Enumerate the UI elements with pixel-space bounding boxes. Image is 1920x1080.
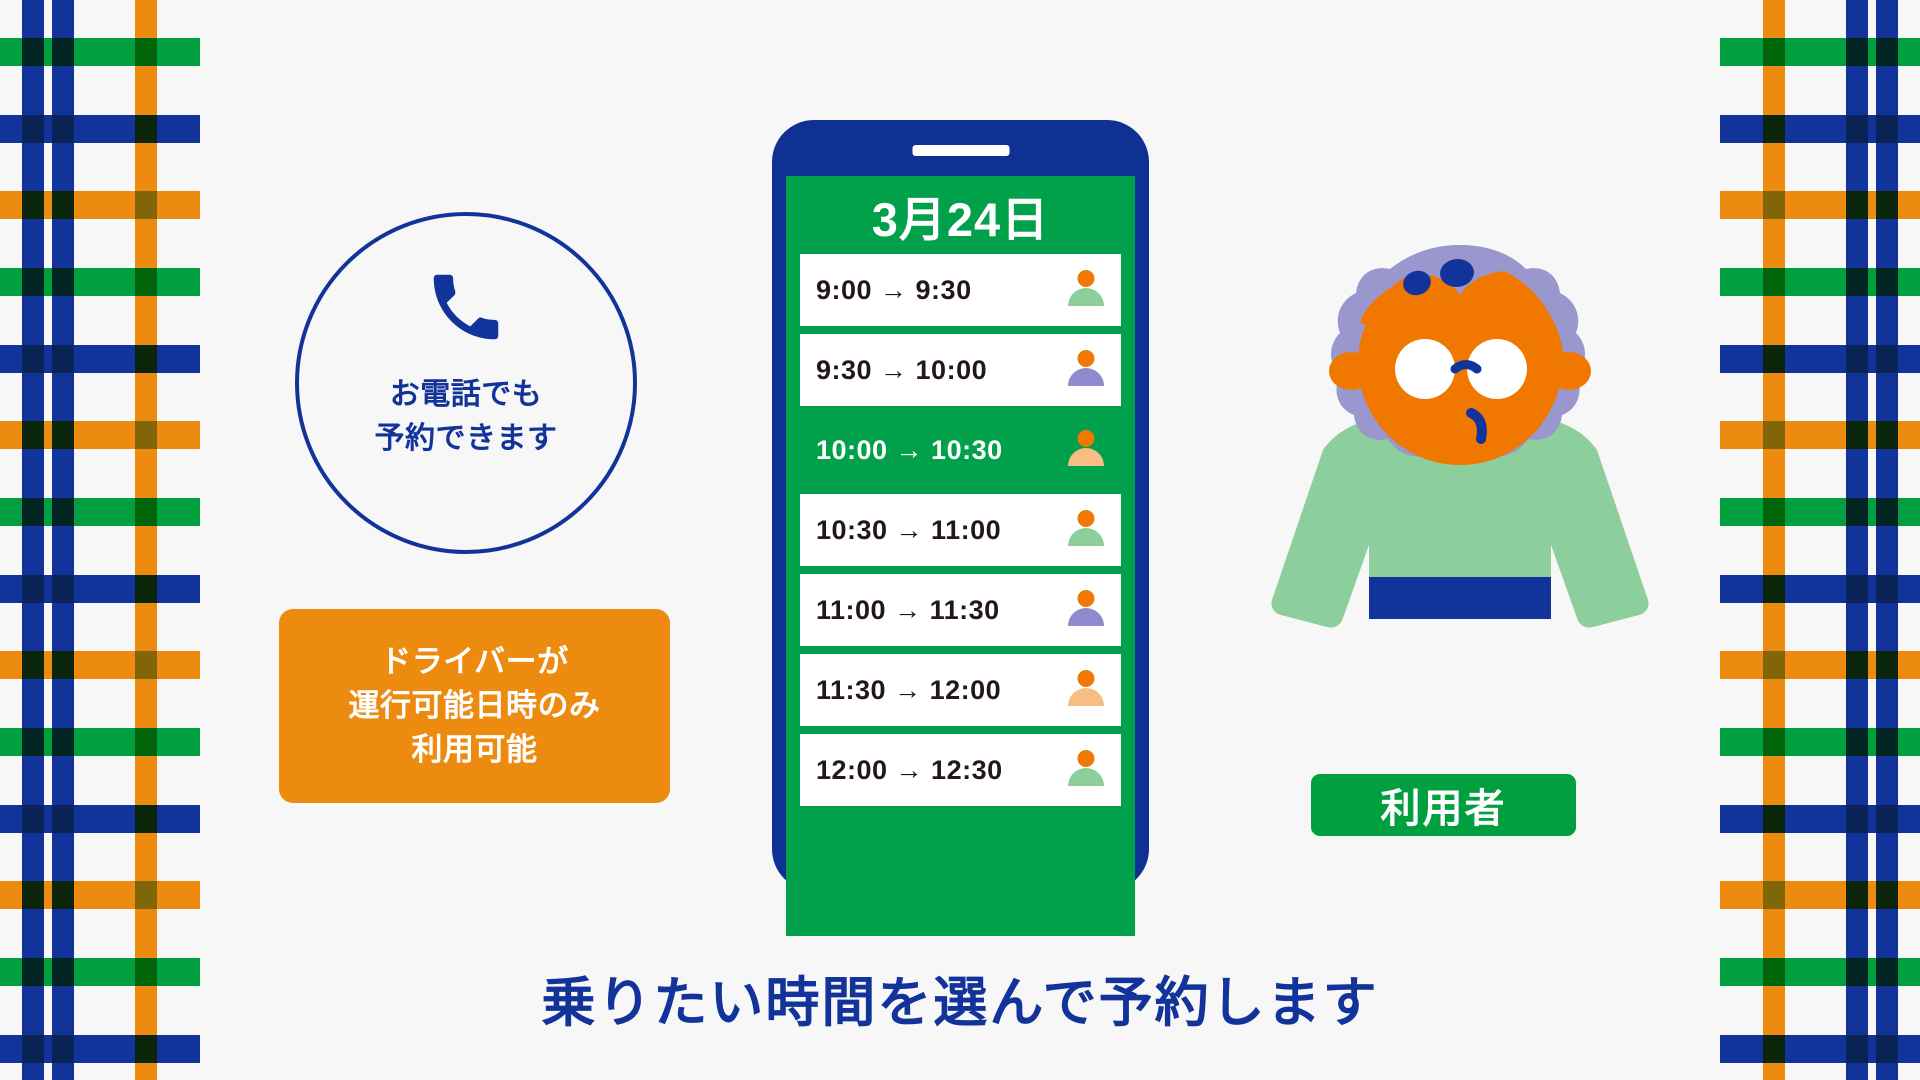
driver-note-line-3: 利用可能 [349,728,601,772]
speaker-slot-icon [912,145,1009,156]
phone-booking-text: お電話でも 予約できます [375,373,558,460]
plaid-vertical-stripe [135,0,157,1080]
plaid-intersection [1846,575,1868,603]
plaid-border-left [0,0,200,1080]
plaid-intersection [1763,728,1785,756]
plaid-intersection [1763,805,1785,833]
plaid-intersection [52,651,74,679]
plaid-intersection [52,421,74,449]
avatar-body [1068,368,1104,386]
plaid-intersection [52,498,74,526]
phone-handset-icon [423,264,509,355]
person-avatar-icon [1065,750,1107,790]
plaid-intersection [1846,345,1868,373]
plaid-intersection [1763,345,1785,373]
plaid-intersection [135,115,157,143]
plaid-intersection [22,345,44,373]
plaid-intersection [135,728,157,756]
plaid-intersection [135,575,157,603]
avatar-body [1068,288,1104,306]
plaid-intersection [1846,805,1868,833]
plaid-intersection [52,345,74,373]
plaid-vertical-stripe [22,0,44,1080]
plaid-intersection [1876,421,1898,449]
plaid-intersection [1763,651,1785,679]
plaid-intersection [1846,115,1868,143]
driver-note-line-2: 運行可能日時のみ [349,684,601,728]
avatar-body [1068,768,1104,786]
plaid-intersection [52,115,74,143]
time-slot-row[interactable]: 9:00 → 9:30 [800,254,1121,326]
avatar-body [1068,528,1104,546]
time-slot-label: 10:00 → 10:30 [816,435,1065,466]
time-slot-label: 10:30 → 11:00 [816,515,1065,546]
plaid-intersection [1763,575,1785,603]
plaid-intersection [1763,191,1785,219]
plaid-intersection [1846,421,1868,449]
plaid-intersection [1876,268,1898,296]
plaid-intersection [52,805,74,833]
plaid-intersection [135,651,157,679]
illustration-canvas: お電話でも 予約できます ドライバーが 運行可能日時のみ 利用可能 3月24日 … [0,0,1920,1080]
date-header: 3月24日 [786,176,1135,254]
avatar-head [1078,430,1095,447]
avatar-head [1078,590,1095,607]
time-slot-label: 9:00 → 9:30 [816,275,1065,306]
plaid-intersection [1846,728,1868,756]
plaid-intersection [22,575,44,603]
plaid-intersection [1846,191,1868,219]
person-avatar-icon [1065,590,1107,630]
avatar-head [1078,270,1095,287]
plaid-intersection [135,805,157,833]
plaid-intersection [1846,651,1868,679]
plaid-intersection [22,728,44,756]
plaid-vertical-stripe [1763,0,1785,1080]
plaid-intersection [22,191,44,219]
avatar-head [1078,670,1095,687]
time-slot-row[interactable]: 9:30 → 10:00 [800,334,1121,406]
plaid-intersection [1763,38,1785,66]
time-slot-label: 11:00 → 11:30 [816,595,1065,626]
plaid-intersection [1763,1035,1785,1063]
time-slot-row[interactable]: 10:30 → 11:00 [800,494,1121,566]
plaid-intersection [22,1035,44,1063]
plaid-intersection [52,881,74,909]
plaid-intersection [52,728,74,756]
person-avatar-icon [1065,270,1107,310]
time-slot-label: 12:00 → 12:30 [816,755,1065,786]
plaid-intersection [52,268,74,296]
time-slot-label: 11:30 → 12:00 [816,675,1065,706]
plaid-border-right [1720,0,1920,1080]
plaid-intersection [1876,651,1898,679]
time-slot-list: 9:00 → 9:309:30 → 10:0010:00 → 10:3010:3… [786,254,1135,806]
plaid-intersection [52,38,74,66]
time-slot-row[interactable]: 11:00 → 11:30 [800,574,1121,646]
user-illustration [1265,245,1655,865]
plaid-intersection [1846,498,1868,526]
plaid-intersection [135,881,157,909]
plaid-intersection [22,115,44,143]
plaid-intersection [22,498,44,526]
call-line-2: 予約できます [375,417,558,461]
plaid-intersection [1846,268,1868,296]
plaid-intersection [22,268,44,296]
call-line-1: お電話でも [375,373,558,417]
driver-note-line-1: ドライバーが [349,640,601,684]
person-avatar-icon [1065,430,1107,470]
plaid-intersection [1763,421,1785,449]
driver-availability-note: ドライバーが 運行可能日時のみ 利用可能 [279,609,670,803]
plaid-intersection [52,1035,74,1063]
plaid-vertical-stripe [1876,0,1898,1080]
plaid-intersection [1876,498,1898,526]
page-caption: 乗りたい時間を選んで予約します [0,958,1920,1037]
plaid-intersection [1876,881,1898,909]
plaid-intersection [1876,1035,1898,1063]
time-slot-label: 9:30 → 10:00 [816,355,1065,386]
plaid-intersection [1876,115,1898,143]
avatar-body [1068,608,1104,626]
person-avatar-icon [1065,350,1107,390]
plaid-intersection [1876,728,1898,756]
plaid-intersection [22,881,44,909]
plaid-intersection [22,805,44,833]
phone-booking-badge: お電話でも 予約できます [295,212,637,554]
plaid-intersection [1763,115,1785,143]
plaid-intersection [135,345,157,373]
user-role-badge: 利用者 [1311,774,1576,836]
avatar-head [1078,750,1095,767]
plaid-intersection [52,575,74,603]
time-slot-row[interactable]: 12:00 → 12:30 [800,734,1121,806]
plaid-intersection [1763,881,1785,909]
time-slot-row[interactable]: 10:00 → 10:30 [800,414,1121,486]
avatar-head [1078,350,1095,367]
plaid-intersection [135,268,157,296]
plaid-vertical-stripe [52,0,74,1080]
plaid-intersection [1876,575,1898,603]
phone-screen: 3月24日 9:00 → 9:309:30 → 10:0010:00 → 10:… [786,176,1135,936]
plaid-intersection [1763,498,1785,526]
smartphone-mockup: 3月24日 9:00 → 9:309:30 → 10:0010:00 → 10:… [772,120,1149,891]
plaid-intersection [52,191,74,219]
avatar-head [1078,510,1095,527]
plaid-intersection [1763,268,1785,296]
plaid-intersection [22,38,44,66]
plaid-intersection [1846,881,1868,909]
avatar-body [1068,688,1104,706]
plaid-intersection [135,191,157,219]
avatar-body [1068,448,1104,466]
plaid-intersection [22,421,44,449]
person-avatar-icon [1065,670,1107,710]
plaid-intersection [22,651,44,679]
plaid-intersection [1876,345,1898,373]
plaid-intersection [1876,805,1898,833]
person-avatar-icon [1065,510,1107,550]
plaid-intersection [1846,38,1868,66]
plaid-intersection [135,38,157,66]
plaid-intersection [1846,1035,1868,1063]
plaid-vertical-stripe [1846,0,1868,1080]
plaid-intersection [135,498,157,526]
time-slot-row[interactable]: 11:30 → 12:00 [800,654,1121,726]
plaid-intersection [135,421,157,449]
plaid-intersection [135,1035,157,1063]
plaid-intersection [1876,38,1898,66]
plaid-intersection [1876,191,1898,219]
